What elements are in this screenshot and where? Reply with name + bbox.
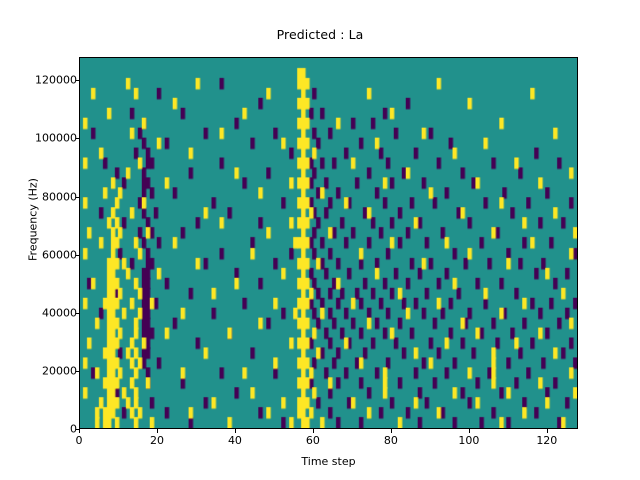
x-tick-label: 60 [293, 434, 333, 447]
page-title: Predicted : La [0, 27, 640, 42]
y-tick-label: 100000 [35, 132, 77, 145]
x-tick-mark [391, 429, 392, 433]
matplotlib-figure: Predicted : La Frequency (Hz) Time step … [0, 0, 640, 480]
x-tick-mark [469, 429, 470, 433]
x-tick-label: 80 [371, 434, 411, 447]
x-tick-mark [157, 429, 158, 433]
y-tick-label: 60000 [42, 248, 77, 261]
y-tick-mark [76, 371, 80, 372]
y-tick-mark [76, 80, 80, 81]
heatmap-axes [79, 57, 578, 429]
y-axis-label: Frequency (Hz) [27, 90, 40, 350]
y-tick-mark [76, 313, 80, 314]
x-tick-label: 100 [449, 434, 489, 447]
y-tick-label: 80000 [42, 190, 77, 203]
y-tick-mark [76, 138, 80, 139]
x-tick-mark [313, 429, 314, 433]
y-tick-mark [76, 197, 80, 198]
y-tick-label: 40000 [42, 306, 77, 319]
x-tick-mark [79, 429, 80, 433]
x-tick-label: 120 [527, 434, 567, 447]
y-tick-label: 120000 [35, 74, 77, 87]
x-tick-label: 40 [215, 434, 255, 447]
x-tick-label: 0 [59, 434, 99, 447]
spectrogram-heatmap [80, 58, 577, 428]
x-tick-mark [235, 429, 236, 433]
y-tick-mark [76, 255, 80, 256]
x-tick-mark [547, 429, 548, 433]
y-tick-label: 20000 [42, 364, 77, 377]
x-tick-label: 20 [137, 434, 177, 447]
x-axis-label: Time step [79, 455, 578, 468]
